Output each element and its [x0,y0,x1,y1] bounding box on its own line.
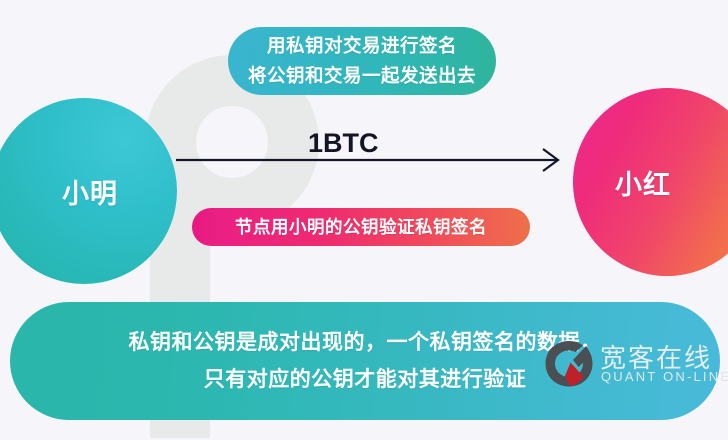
keypair-summary-bubble: 私钥和公钥是成对出现的，一个私钥签名的数据， 只有对应的公钥才能对其进行验证 [10,302,720,420]
verify-signature-bubble: 节点用小明的公钥验证私钥签名 [192,208,530,246]
infographic-canvas: 小明 小红 1BTC 用私钥对交易进行签名 将公钥和交易一起发送出去 节点用小明… [0,0,728,440]
sender-circle: 小明 [0,98,177,284]
verify-bubble-line-1: 节点用小明的公钥验证私钥签名 [235,216,487,238]
summary-bubble-line-1: 私钥和公钥是成对出现的，一个私钥签名的数据， [129,324,602,361]
summary-bubble-line-2: 只有对应的公钥才能对其进行验证 [204,361,527,398]
transfer-amount-label: 1BTC [308,128,379,159]
sign-bubble-line-1: 用私钥对交易进行签名 [267,31,457,61]
receiver-circle: 小红 [573,88,728,276]
receiver-label: 小红 [615,163,671,202]
sign-transaction-bubble: 用私钥对交易进行签名 将公钥和交易一起发送出去 [228,27,496,95]
sender-label: 小明 [62,172,118,211]
sign-bubble-line-2: 将公钥和交易一起发送出去 [248,61,476,91]
